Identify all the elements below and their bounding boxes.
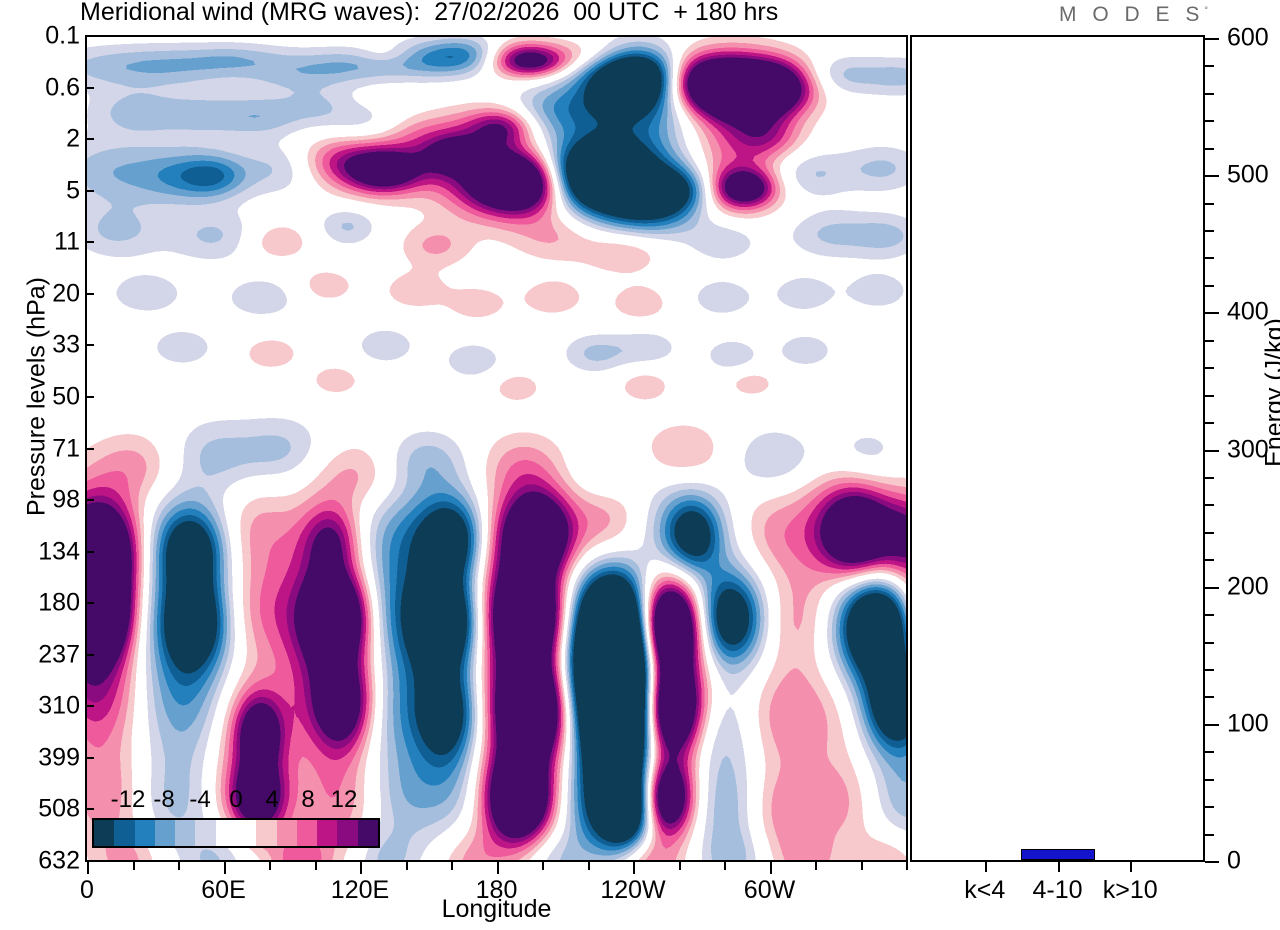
colorbar-tick-labels: -12-8-404812 <box>82 786 402 814</box>
energy-tick-mark <box>1205 751 1214 753</box>
y-tick-label: 134 <box>6 537 80 566</box>
chart-root: Meridional wind (MRG waves): 27/02/2026 … <box>0 0 1280 930</box>
colorbar-tick-label: 12 <box>331 786 358 814</box>
x-tick-mark <box>406 862 408 870</box>
colorbar-swatch <box>317 820 337 846</box>
energy-tick-mark <box>1205 587 1219 589</box>
y-tick-mark <box>85 87 94 89</box>
energy-category-tick <box>1130 862 1132 872</box>
y-tick-label: 98 <box>6 486 80 515</box>
colorbar-swatch <box>297 820 317 846</box>
colorbar-swatch <box>236 820 256 846</box>
energy-tick-label: 100 <box>1227 709 1269 738</box>
energy-tick-mark <box>1205 696 1214 698</box>
y-tick-label: 632 <box>6 847 80 876</box>
y-tick-mark <box>85 448 94 450</box>
energy-category-label: k>10 <box>1103 876 1158 905</box>
x-tick-mark <box>861 862 863 870</box>
energy-tick-mark <box>1205 93 1214 95</box>
y-tick-label: 2 <box>6 125 80 154</box>
energy-tick-mark <box>1205 257 1214 259</box>
energy-tick-label: 600 <box>1227 24 1269 53</box>
x-tick-mark <box>224 862 226 874</box>
y-tick-label: 399 <box>6 743 80 772</box>
energy-tick-label: 0 <box>1227 847 1241 876</box>
colorbar-swatch <box>135 820 155 846</box>
x-tick-mark <box>815 862 817 870</box>
colorbar-swatch <box>175 820 195 846</box>
energy-category-label: k<4 <box>964 876 1005 905</box>
x-tick-mark <box>360 862 362 874</box>
colorbar-swatch <box>114 820 134 846</box>
x-axis-ticks: 060E120E180120W60W <box>85 862 908 922</box>
y-axis-ticks-right: 0100200300400500600 <box>1205 35 1280 862</box>
y-tick-mark <box>85 35 94 37</box>
energy-category-labels: k<44-10k>10 <box>910 876 1205 910</box>
y-tick-label: 11 <box>6 228 80 257</box>
y-tick-label: 0.6 <box>6 73 80 102</box>
y-tick-label: 71 <box>6 434 80 463</box>
y-tick-label: 20 <box>6 279 80 308</box>
y-tick-mark <box>85 138 94 140</box>
energy-bar-panel <box>910 35 1205 862</box>
y-tick-mark <box>85 757 94 759</box>
energy-tick-mark <box>1205 614 1214 616</box>
colorbar-tick-label: 0 <box>229 786 242 814</box>
x-tick-label: 60E <box>201 876 245 905</box>
energy-tick-mark <box>1205 477 1214 479</box>
energy-tick-mark <box>1205 120 1214 122</box>
energy-tick-mark <box>1205 340 1214 342</box>
colorbar-tick-label: -12 <box>111 786 146 814</box>
meridional-wind-field <box>87 37 906 860</box>
y-tick-mark <box>85 344 94 346</box>
x-tick-mark <box>679 862 681 870</box>
energy-bar[interactable] <box>1021 849 1095 860</box>
colorbar-swatch <box>277 820 297 846</box>
energy-tick-mark <box>1205 669 1214 671</box>
energy-tick-mark <box>1205 148 1214 150</box>
y-tick-mark <box>85 293 94 295</box>
x-tick-mark <box>542 862 544 870</box>
x-tick-mark <box>315 862 317 870</box>
energy-tick-label: 500 <box>1227 161 1269 190</box>
colorbar <box>92 818 380 848</box>
energy-tick-mark <box>1205 367 1214 369</box>
x-tick-mark <box>633 862 635 874</box>
energy-tick-mark <box>1205 203 1214 205</box>
energy-tick-mark <box>1205 175 1219 177</box>
x-tick-mark <box>451 862 453 870</box>
modes-logo-text: M O D E S <box>1059 3 1204 26</box>
colorbar-tick-label: -8 <box>153 786 174 814</box>
energy-bars <box>912 37 1203 860</box>
colorbar-swatch <box>256 820 276 846</box>
y-tick-label: 5 <box>6 176 80 205</box>
x-tick-mark <box>87 862 89 874</box>
colorbar-swatch <box>195 820 215 846</box>
energy-tick-mark <box>1205 422 1214 424</box>
x-tick-label: 60W <box>744 876 795 905</box>
energy-tick-mark <box>1205 724 1219 726</box>
colorbar-swatch <box>358 820 378 846</box>
colorbar-swatch <box>337 820 357 846</box>
energy-category-tick <box>985 862 987 872</box>
x-tick-mark <box>178 862 180 870</box>
x-tick-label: 120E <box>331 876 389 905</box>
x-tick-mark <box>133 862 135 870</box>
energy-tick-mark <box>1205 861 1219 863</box>
x-tick-mark <box>724 862 726 870</box>
modes-logo-degree: ° <box>1204 5 1208 15</box>
energy-category-label: 4-10 <box>1032 876 1082 905</box>
y-tick-mark <box>85 860 94 862</box>
y-tick-mark <box>85 396 94 398</box>
y-axis-ticks-left: 0.10.62511203350719813418023731039950863… <box>0 35 80 862</box>
energy-tick-mark <box>1205 806 1214 808</box>
energy-tick-mark <box>1205 532 1214 534</box>
x-tick-mark <box>269 862 271 870</box>
energy-tick-mark <box>1205 65 1214 67</box>
energy-tick-label: 300 <box>1227 435 1269 464</box>
energy-tick-mark <box>1205 285 1214 287</box>
y-tick-label: 237 <box>6 640 80 669</box>
x-tick-label: 180 <box>476 876 518 905</box>
x-tick-mark <box>588 862 590 870</box>
y-tick-mark <box>85 602 94 604</box>
colorbar-swatch <box>216 820 236 846</box>
y-tick-label: 310 <box>6 692 80 721</box>
energy-tick-mark <box>1205 834 1214 836</box>
y-tick-mark <box>85 499 94 501</box>
energy-tick-mark <box>1205 779 1214 781</box>
y-tick-mark <box>85 241 94 243</box>
page-title: Meridional wind (MRG waves): 27/02/2026 … <box>80 0 980 28</box>
energy-tick-label: 400 <box>1227 298 1269 327</box>
x-tick-mark <box>906 862 908 870</box>
y-tick-label: 508 <box>6 795 80 824</box>
y-tick-label: 180 <box>6 589 80 618</box>
x-tick-label: 0 <box>80 876 94 905</box>
energy-tick-mark <box>1205 395 1214 397</box>
contour-plot-panel <box>85 35 908 862</box>
y-tick-mark <box>85 551 94 553</box>
y-tick-mark <box>85 190 94 192</box>
x-tick-mark <box>497 862 499 874</box>
colorbar-tick-label: 4 <box>265 786 278 814</box>
y-tick-label: 33 <box>6 331 80 360</box>
y-tick-mark <box>85 705 94 707</box>
colorbar-swatch <box>155 820 175 846</box>
x-tick-label: 120W <box>600 876 665 905</box>
y-tick-label: 0.1 <box>6 22 80 51</box>
y-tick-mark <box>85 654 94 656</box>
x-tick-mark <box>770 862 772 874</box>
colorbar-tick-label: -4 <box>189 786 210 814</box>
energy-tick-mark <box>1205 450 1219 452</box>
modes-logo: M O D E S° <box>1059 3 1208 27</box>
energy-tick-mark <box>1205 312 1219 314</box>
energy-category-tick <box>1058 862 1060 872</box>
colorbar-swatch <box>94 820 114 846</box>
energy-tick-mark <box>1205 38 1219 40</box>
y-tick-label: 50 <box>6 382 80 411</box>
energy-tick-mark <box>1205 559 1214 561</box>
energy-tick-mark <box>1205 230 1214 232</box>
colorbar-tick-label: 8 <box>301 786 314 814</box>
energy-tick-label: 200 <box>1227 572 1269 601</box>
energy-tick-mark <box>1205 504 1214 506</box>
energy-tick-mark <box>1205 642 1214 644</box>
